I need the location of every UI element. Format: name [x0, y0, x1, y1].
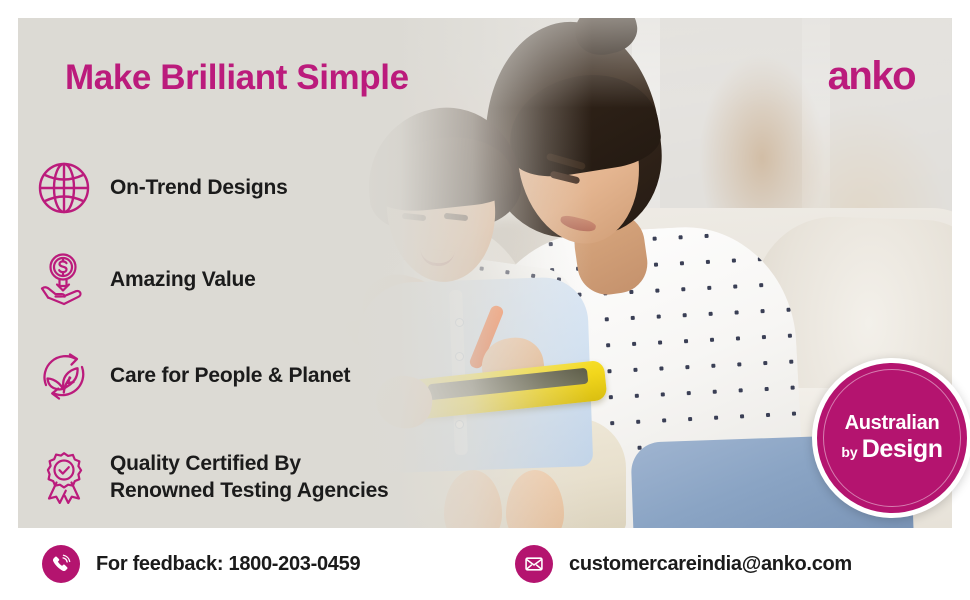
badge-line-1: Australian: [845, 413, 940, 434]
envelope-icon: [515, 545, 553, 583]
feature-label: Quality Certified By Renowned Testing Ag…: [110, 451, 389, 505]
award-ribbon-check-icon: [36, 450, 92, 506]
badge-line-2: by Design: [841, 436, 942, 462]
banner-stage: Make Brilliant Simple anko On-Trend De: [18, 18, 952, 528]
feature-label: On-Trend Designs: [110, 175, 288, 202]
badge-small-word: by: [841, 445, 857, 460]
page-title: Make Brilliant Simple: [65, 58, 409, 98]
feature-item-on-trend-designs: On-Trend Designs: [36, 160, 288, 216]
badge-design-word: Design: [862, 436, 943, 462]
australian-by-design-badge: Australian by Design: [812, 358, 970, 518]
hand-holding-coin-icon: [36, 252, 92, 308]
feature-label: Care for People & Planet: [110, 363, 350, 390]
feature-item-care-for-people-planet: Care for People & Planet: [36, 348, 350, 404]
feature-label: Amazing Value: [110, 267, 256, 294]
recycle-leaf-icon: [36, 348, 92, 404]
email-label: customercareindia@anko.com: [569, 553, 852, 576]
contact-footer: For feedback: 1800-203-0459 customercare…: [0, 528, 970, 600]
globe-icon: [36, 160, 92, 216]
phone-icon: [42, 545, 80, 583]
email-contact[interactable]: customercareindia@anko.com: [515, 545, 852, 583]
anko-logo: anko: [828, 56, 915, 96]
phone-label: For feedback: 1800-203-0459: [96, 553, 360, 576]
feature-item-amazing-value: Amazing Value: [36, 252, 256, 308]
phone-contact[interactable]: For feedback: 1800-203-0459: [42, 545, 360, 583]
promo-banner: Make Brilliant Simple anko On-Trend De: [0, 0, 970, 600]
feature-item-quality-certified: Quality Certified By Renowned Testing Ag…: [36, 450, 389, 506]
